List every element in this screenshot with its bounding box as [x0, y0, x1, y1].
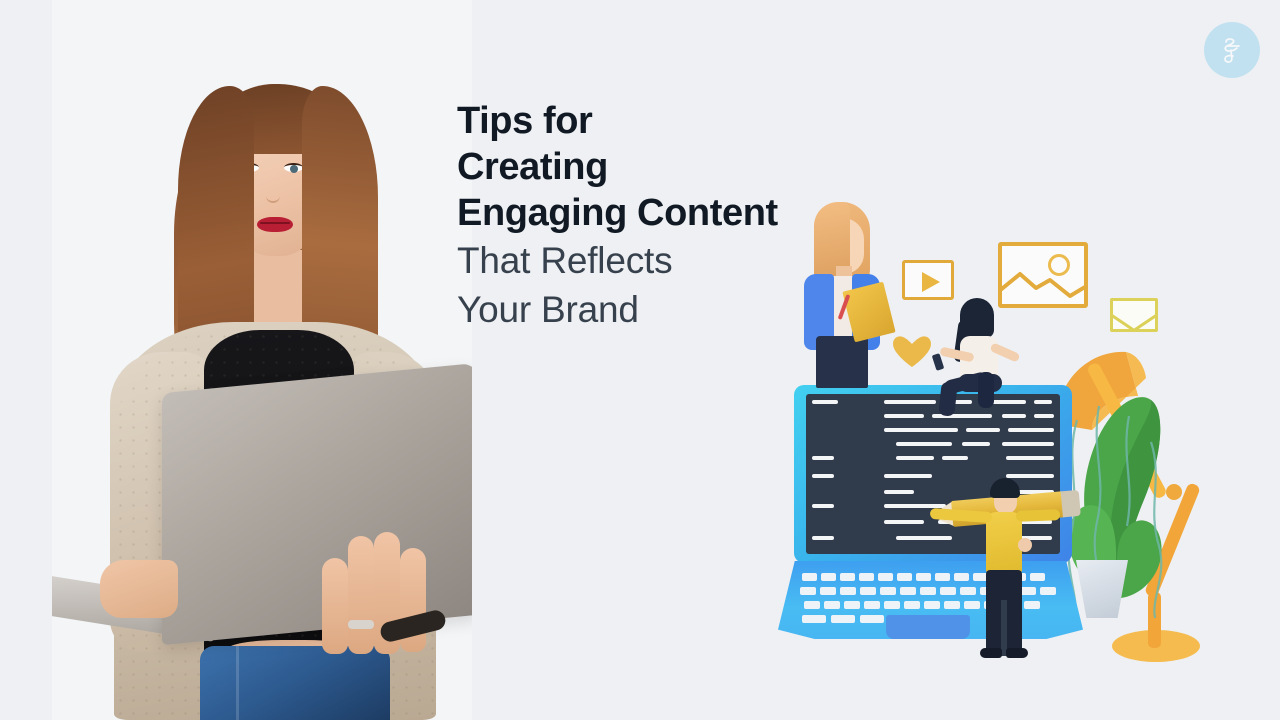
w1-skirt: [816, 336, 868, 388]
keyboard-key: [860, 615, 884, 623]
keyboard-key: [897, 573, 912, 581]
screen-code-line: [1002, 414, 1026, 418]
screen-code-line: [896, 442, 952, 446]
keyboard-key: [840, 587, 856, 595]
keyboard-key: [916, 573, 931, 581]
photo-jeans: [200, 646, 390, 720]
screen-code-line: [884, 474, 932, 478]
keyboard-key: [864, 601, 880, 609]
w2-hair: [960, 298, 994, 338]
keyboard-key: [831, 615, 855, 623]
m1-sweater: [986, 512, 1022, 574]
keyboard-key: [824, 601, 840, 609]
m1-arm-right: [1016, 509, 1060, 522]
character-man-holding-pencil: [968, 478, 1038, 658]
keyboard-key: [859, 573, 874, 581]
screen-code-line: [896, 536, 952, 540]
photo-hand-left: [100, 560, 178, 618]
hero-photo-woman-with-laptop: [52, 0, 472, 720]
screen-code-line: [812, 504, 834, 508]
screen-code-line: [812, 474, 834, 478]
photo-finger: [348, 536, 374, 654]
screen-code-line: [896, 456, 934, 460]
screen-code-line: [884, 428, 958, 432]
brand-logo-icon[interactable]: [1204, 22, 1260, 78]
pencil-eraser: [1061, 490, 1081, 517]
keyboard-key: [880, 587, 896, 595]
keyboard-key: [900, 587, 916, 595]
screen-code-line: [962, 442, 990, 446]
m1-shoe-left: [980, 648, 1002, 658]
screen-code-line: [1034, 400, 1052, 404]
screen-code-line: [812, 456, 834, 460]
m1-hair: [990, 478, 1020, 498]
keyboard-key: [821, 573, 836, 581]
keyboard-key: [920, 587, 936, 595]
keyboard-key: [804, 601, 820, 609]
headline-bold-line-1: Tips for: [457, 98, 927, 144]
keyboard-key: [944, 601, 960, 609]
keyboard-key: [924, 601, 940, 609]
keyboard-key: [884, 601, 900, 609]
m1-hand: [1018, 538, 1032, 552]
screen-code-line: [1008, 428, 1054, 432]
keyboard-key: [840, 573, 855, 581]
headline-bold-line-2: Creating: [457, 144, 927, 190]
screen-code-line: [884, 414, 924, 418]
screen-code-line: [884, 490, 914, 494]
character-woman-with-clipboard: [796, 202, 888, 388]
screen-code-line: [812, 536, 834, 540]
keyboard-key: [802, 573, 817, 581]
screen-code-line: [942, 456, 968, 460]
keyboard-key: [954, 573, 969, 581]
keyboard-key: [904, 601, 920, 609]
play-video-icon: [902, 260, 954, 300]
screen-code-line: [1002, 442, 1054, 446]
keyboard-key: [860, 587, 876, 595]
envelope-icon: [1110, 298, 1158, 332]
screen-code-line: [966, 428, 1000, 432]
keyboard-key: [878, 573, 893, 581]
character-woman-sitting-with-phone: [938, 298, 1024, 406]
screen-code-line: [1006, 456, 1054, 460]
keyboard-key: [1040, 587, 1056, 595]
photo-lips: [257, 217, 293, 232]
keyboard-key: [802, 615, 826, 623]
keyboard-key: [820, 587, 836, 595]
photo-ring: [348, 620, 374, 629]
content-creation-illustration: [760, 210, 1230, 690]
m1-leg-gap: [1001, 600, 1007, 656]
script-monogram-glyph: [1215, 33, 1249, 67]
laptop-trackpad: [886, 615, 970, 639]
screen-code-line: [1034, 414, 1054, 418]
heart-icon: [892, 334, 932, 368]
image-icon-mountains: [998, 262, 1088, 298]
screen-code-line: [884, 520, 924, 524]
photo-nose: [266, 183, 280, 203]
photo-pupil-right: [290, 165, 298, 173]
w2-shin-right: [978, 372, 994, 408]
keyboard-key: [800, 587, 816, 595]
photo-finger: [322, 558, 348, 654]
screen-code-line: [812, 400, 838, 404]
screen-code-line: [884, 400, 936, 404]
keyboard-key: [935, 573, 950, 581]
m1-shoe-right: [1006, 648, 1028, 658]
keyboard-key: [940, 587, 956, 595]
keyboard-key: [844, 601, 860, 609]
promo-banner: Tips for Creating Engaging Content That …: [0, 0, 1280, 720]
